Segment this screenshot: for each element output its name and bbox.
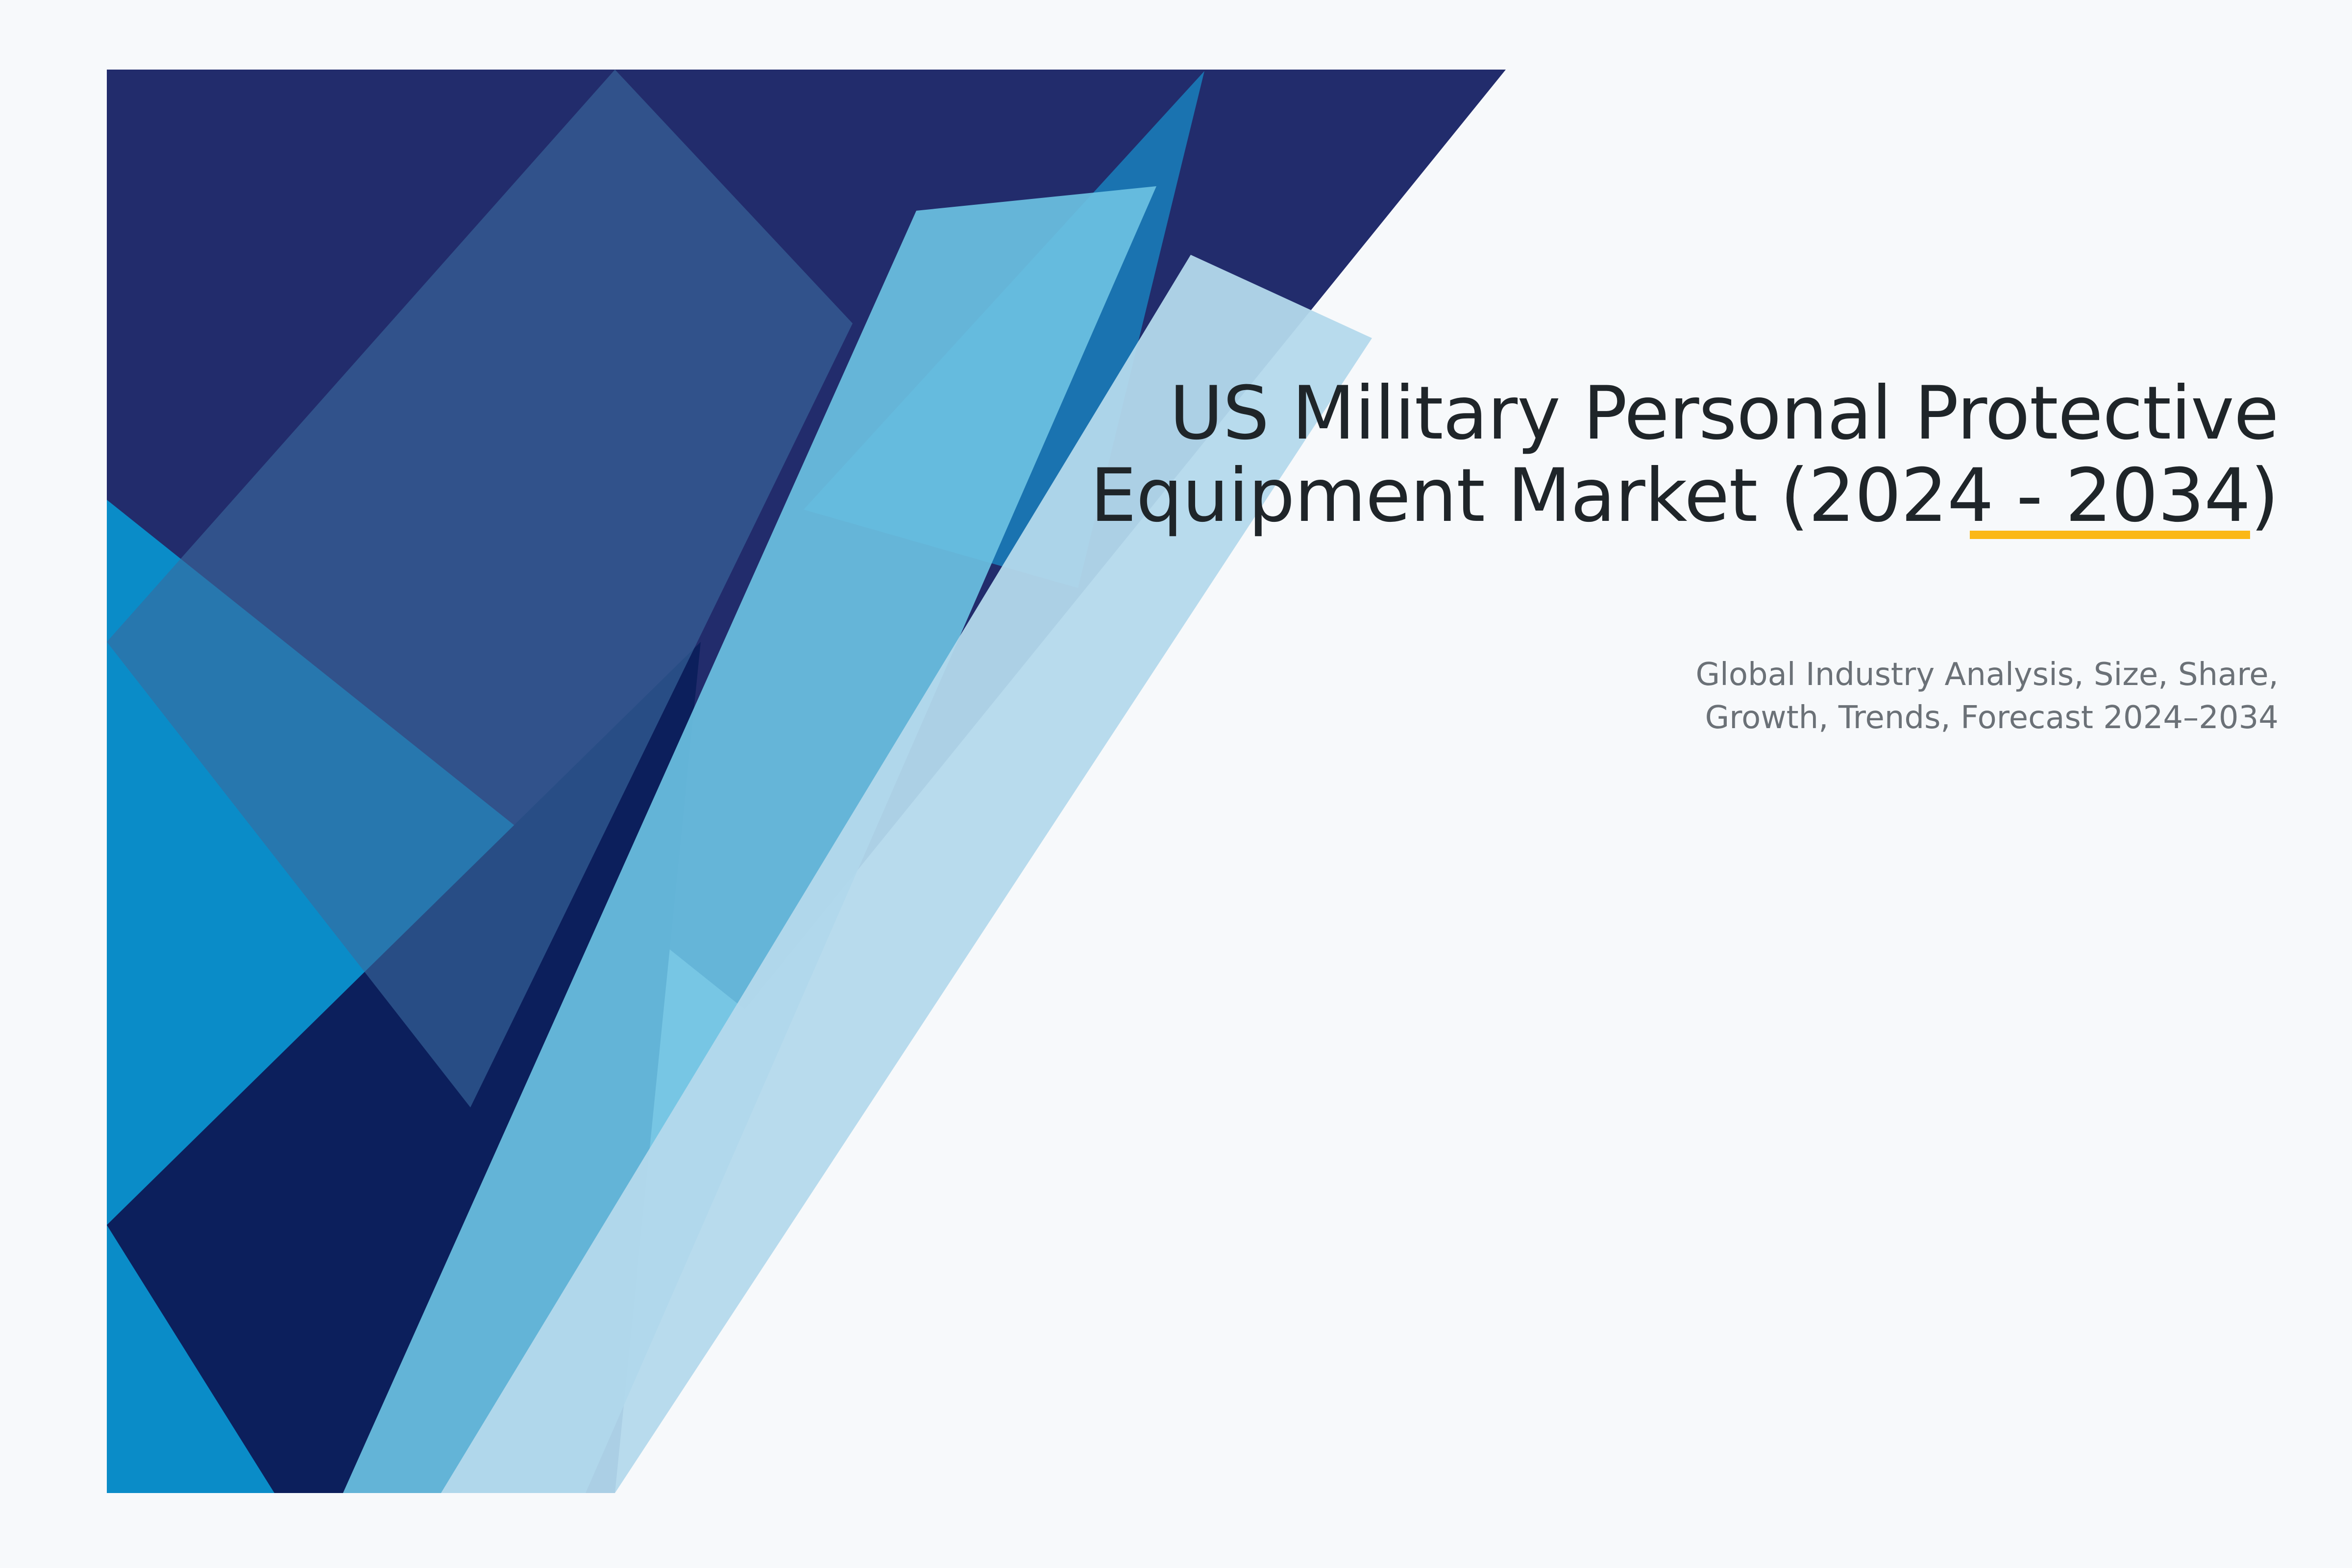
title-block: US Military Personal Protective Equipmen… (931, 372, 2278, 537)
title-accent-bar (1970, 531, 2250, 539)
abstract-geometric-artwork-icon (0, 0, 1568, 1568)
report-cover-page: US Military Personal Protective Equipmen… (0, 0, 2352, 1568)
artwork-top-mask (0, 0, 1568, 70)
artwork-bottom-mask (0, 1493, 1568, 1568)
cover-artwork (0, 0, 1568, 1568)
page-title: US Military Personal Protective Equipmen… (931, 372, 2278, 537)
page-subtitle: Global Industry Analysis, Size, Share, G… (931, 653, 2278, 740)
artwork-left-mask (0, 0, 107, 1568)
